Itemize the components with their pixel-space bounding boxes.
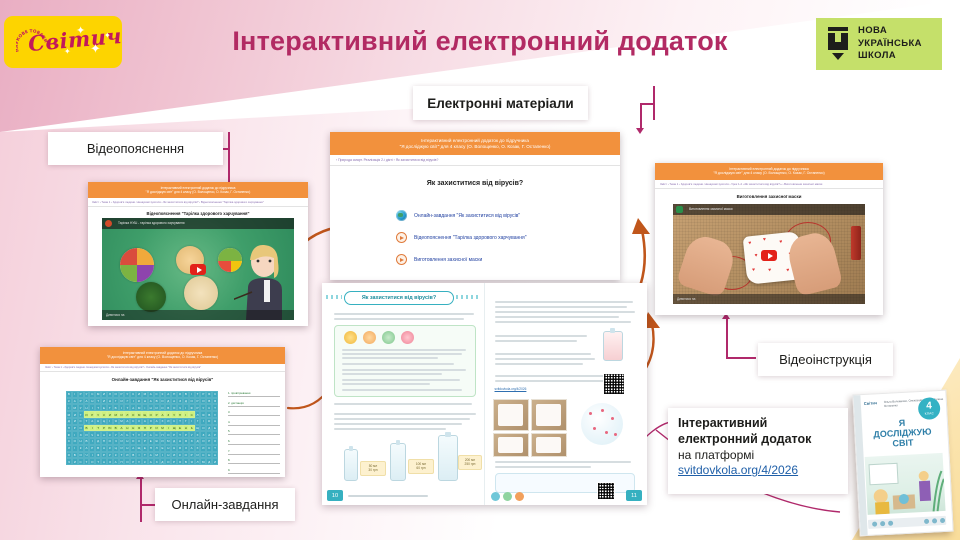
- watch-on-label: Дивитися на: [106, 313, 124, 317]
- mask-step-photo: [531, 433, 567, 457]
- video-topbar: Тарілка НУШ - тарілка здорового харчуван…: [102, 218, 294, 229]
- screenshot-header-line-2: "Я досліджую світ" для 4 класу (О. Волощ…: [661, 171, 877, 175]
- callout-electronic-materials: Електронні матеріали: [413, 86, 588, 120]
- page-number: 11: [626, 490, 642, 501]
- platform-line-3: на платформі: [678, 448, 838, 462]
- water-icon: [491, 492, 500, 501]
- grid-cell[interactable]: Н: [212, 418, 218, 425]
- answer-slot[interactable]: 3.: [228, 410, 280, 416]
- grid-cell[interactable]: А: [212, 452, 218, 459]
- page-footer-icons: [491, 492, 524, 501]
- textbook-spread: Як захиститися від вірусів?: [322, 283, 647, 505]
- decor-dots: [326, 295, 342, 299]
- grid-cell[interactable]: Т: [212, 445, 218, 452]
- screenshot-header: Інтерактивний електронний додаток до під…: [88, 182, 308, 198]
- play-icon: [396, 232, 407, 243]
- list-item-label: Відеопояснення "Тарілка здорового харчув…: [414, 235, 527, 241]
- grid-cell[interactable]: Р: [212, 431, 218, 438]
- mask-step-photo: [493, 433, 529, 457]
- answer-slot[interactable]: 5.: [228, 429, 280, 435]
- list-item[interactable]: Онлайн-завдання "Як захиститися від віру…: [396, 210, 527, 221]
- nus-emblem-icon: [825, 27, 851, 61]
- screenshot-title: Виготовлення захисної маски: [655, 194, 883, 199]
- video-player-title: Тарілка НУШ - тарілка здорового харчуван…: [118, 221, 185, 225]
- materials-list: Онлайн-завдання "Як захиститися від віру…: [396, 210, 527, 276]
- textbook-cover: Світич Ольга Волощенко, Олександра Козак…: [852, 390, 953, 537]
- callout-video-explanation: Відеопояснення: [48, 132, 223, 165]
- screenshot-header: Інтерактивний електронний додаток до під…: [40, 347, 285, 364]
- answer-slot[interactable]: 4.: [228, 420, 280, 426]
- breadcrumb[interactable]: Зміст › Тема 1 › Здоров'я людини. Ненаук…: [88, 198, 308, 207]
- nus-line-2: УКРАЇНСЬКА: [858, 38, 922, 49]
- sun-icon: [344, 331, 357, 344]
- list-item-label: Онлайн-завдання "Як захиститися від віру…: [414, 213, 520, 219]
- connector-instruction-vertical: [726, 317, 728, 357]
- nus-line-1: НОВА: [858, 25, 887, 36]
- grid-cell[interactable]: Е: [212, 425, 218, 432]
- food-plate-icon: [120, 248, 154, 282]
- screenshot-title: Онлайн-завдання "Як захиститися від віру…: [40, 377, 285, 382]
- screenshot-video-explanation[interactable]: Інтерактивний електронний додаток до під…: [88, 182, 308, 326]
- connector-online-horizontal: [140, 504, 156, 506]
- answer-slot[interactable]: 6.: [228, 439, 280, 445]
- bottle-100ml: [390, 443, 406, 481]
- video-topbar: Виготовлення захисної маски: [673, 204, 865, 215]
- mask-step-photo: [531, 399, 567, 431]
- screenshot-header: Інтерактивний електронний додаток до під…: [655, 163, 883, 180]
- screenshot-header: Інтерактивний електронний додаток до під…: [330, 132, 620, 155]
- nus-logo-text: НОВА УКРАЇНСЬКА ШКОЛА: [858, 25, 922, 63]
- connector-online-vertical: [140, 477, 142, 522]
- book-title-line-1: Я: [898, 418, 905, 428]
- screenshot-electronic-materials[interactable]: Інтерактивний електронний додаток до під…: [330, 132, 620, 280]
- mask-icon: [382, 331, 395, 344]
- connector-video-tick: [222, 148, 230, 150]
- video-bottombar: Дивитися на: [673, 294, 865, 304]
- answer-slot[interactable]: 8.: [228, 458, 280, 464]
- callout-platform: Інтерактивний електронний додаток на пла…: [668, 408, 848, 494]
- answer-slot[interactable]: 9.: [228, 468, 280, 474]
- channel-avatar: [676, 206, 683, 213]
- callout-video-instruction: Відеоінструкція: [758, 343, 893, 376]
- price-tag: 100 мл60 грн: [408, 459, 434, 474]
- soap-icon: [363, 331, 376, 344]
- textbook-page-left: Як захиститися від вірусів?: [322, 283, 485, 505]
- cover-illustration: [865, 453, 946, 515]
- screenshot-header-line-2: "Я досліджую світ" для 4 класу (О. Волощ…: [46, 355, 279, 359]
- grid-cell[interactable]: Т: [212, 404, 218, 411]
- answer-slot[interactable]: 2. дистанція: [228, 401, 280, 407]
- screenshot-video-instruction[interactable]: Інтерактивний електронний додаток до під…: [655, 163, 883, 315]
- decor-dots: [456, 295, 480, 299]
- connector-materials-down: [640, 103, 642, 129]
- grid-cell[interactable]: И: [212, 458, 218, 465]
- breadcrumb[interactable]: Зміст › Тема 1 › Здоров'я людини. Ненаук…: [40, 364, 285, 372]
- video-player-title: Виготовлення захисної маски: [689, 207, 733, 211]
- grid-cell[interactable]: С: [212, 391, 218, 398]
- nus-line-3: ШКОЛА: [858, 50, 896, 61]
- answer-slot[interactable]: 1. провітрювання: [228, 391, 280, 397]
- publisher-label: Світич: [864, 400, 877, 406]
- qr-code: [597, 482, 615, 500]
- nus-logo: НОВА УКРАЇНСЬКА ШКОЛА: [816, 18, 942, 70]
- platform-url[interactable]: svitdovkola.org/4/2026: [678, 463, 838, 477]
- slide-canvas: НАУКОВЕ ТОВАРИСТВО Світич ✦ ✦ ✦ ✦ Інтера…: [0, 0, 960, 540]
- screenshot-header-line-2: "Я досліджую світ" для 4 класу (О. Волощ…: [338, 144, 612, 150]
- virus-illustration: [581, 403, 623, 445]
- youtube-play-button[interactable]: [190, 264, 206, 275]
- cover-footer-strip: [868, 516, 946, 529]
- grid-cell[interactable]: У: [212, 411, 218, 418]
- food-plate-icon: [184, 276, 218, 310]
- qr-code: [603, 373, 625, 395]
- thread-spool: [851, 226, 861, 260]
- callout-online-task: Онлайн-завдання: [155, 488, 295, 521]
- list-item-label: Виготовлення захисної маски: [414, 257, 482, 263]
- leaf-icon: [503, 492, 512, 501]
- grid-cell[interactable]: Я: [212, 398, 218, 405]
- connector-materials-tick: [640, 103, 654, 105]
- screenshot-header-line-2: "Я досліджую світ" для 4 класу (О. Волощ…: [92, 190, 304, 194]
- globe-icon: [396, 210, 407, 221]
- grid-cell[interactable]: О: [212, 438, 218, 445]
- channel-avatar: [105, 220, 112, 227]
- teacher-illustration: [234, 242, 288, 320]
- connector-instruction-horizontal: [726, 357, 756, 359]
- product-bottle: [603, 331, 623, 361]
- watch-on-label: Дивитися на: [677, 297, 695, 301]
- tips-icons: [344, 331, 414, 344]
- price-tag: 50 мл30 грн: [360, 461, 386, 476]
- video-player[interactable]: Виготовлення захисної маски ♥ ♥ ♥ ♥ ♥ ♥ …: [673, 204, 865, 304]
- textbook-page-right: svitdovkola.org/4/2026 11: [485, 283, 648, 505]
- list-item[interactable]: Відеопояснення "Тарілка здорового харчув…: [396, 232, 527, 243]
- page-link[interactable]: svitdovkola.org/4/2026: [495, 387, 527, 391]
- breadcrumb[interactable]: Зміст › Тема 1 › Здоров'я людини. Ненаук…: [655, 180, 883, 189]
- price-tag: 200 мл250 грн: [458, 455, 482, 470]
- bottle-50ml: [344, 449, 358, 481]
- book-icon: [515, 492, 524, 501]
- grade-number: 4: [926, 401, 932, 411]
- video-bottombar: Дивитися на: [102, 310, 294, 320]
- screenshot-online-task[interactable]: Інтерактивний електронний додаток до під…: [40, 347, 285, 477]
- answers-list: 1. провітрювання2. дистанція3.4.5.6.7.8.…: [228, 391, 280, 477]
- page-topic-heading: Як захиститися від вірусів?: [344, 291, 454, 305]
- mask-step-photo: [493, 399, 529, 431]
- book-title-line-3: СВІТ: [892, 437, 913, 448]
- platform-line-2: електронний додаток: [678, 432, 838, 448]
- screenshot-title: Відеопояснення "Тарілка здорового харчув…: [88, 211, 308, 216]
- grade-label: КЛАС: [925, 411, 935, 415]
- connector-video-vertical: [228, 132, 230, 184]
- breadcrumb[interactable]: › Природа смарт. Реалізація 2-і діяті › …: [330, 155, 620, 166]
- youtube-play-button[interactable]: [761, 250, 777, 261]
- virus-icon: [401, 331, 414, 344]
- play-icon: [396, 254, 407, 265]
- book-title: Я ДОСЛІДЖУЮ СВІТ: [865, 417, 940, 451]
- answer-slot[interactable]: 7.: [228, 449, 280, 455]
- bottle-200ml: [438, 435, 458, 481]
- arrowhead-materials: [636, 128, 644, 134]
- food-plate-icon: [136, 282, 166, 312]
- video-player[interactable]: Тарілка НУШ - тарілка здорового харчуван…: [102, 218, 294, 320]
- word-search-grid[interactable]: ВІРУСМИЛОРУКИМАСКАПОВІТРЯСКАРАНТИНГИГІЄН…: [66, 391, 218, 465]
- platform-line-1: Інтерактивний: [678, 416, 838, 432]
- screenshot-title: Як захиститися від вірусів?: [330, 180, 620, 187]
- list-item[interactable]: Виготовлення захисної маски: [396, 254, 527, 265]
- page-number: 10: [327, 490, 343, 501]
